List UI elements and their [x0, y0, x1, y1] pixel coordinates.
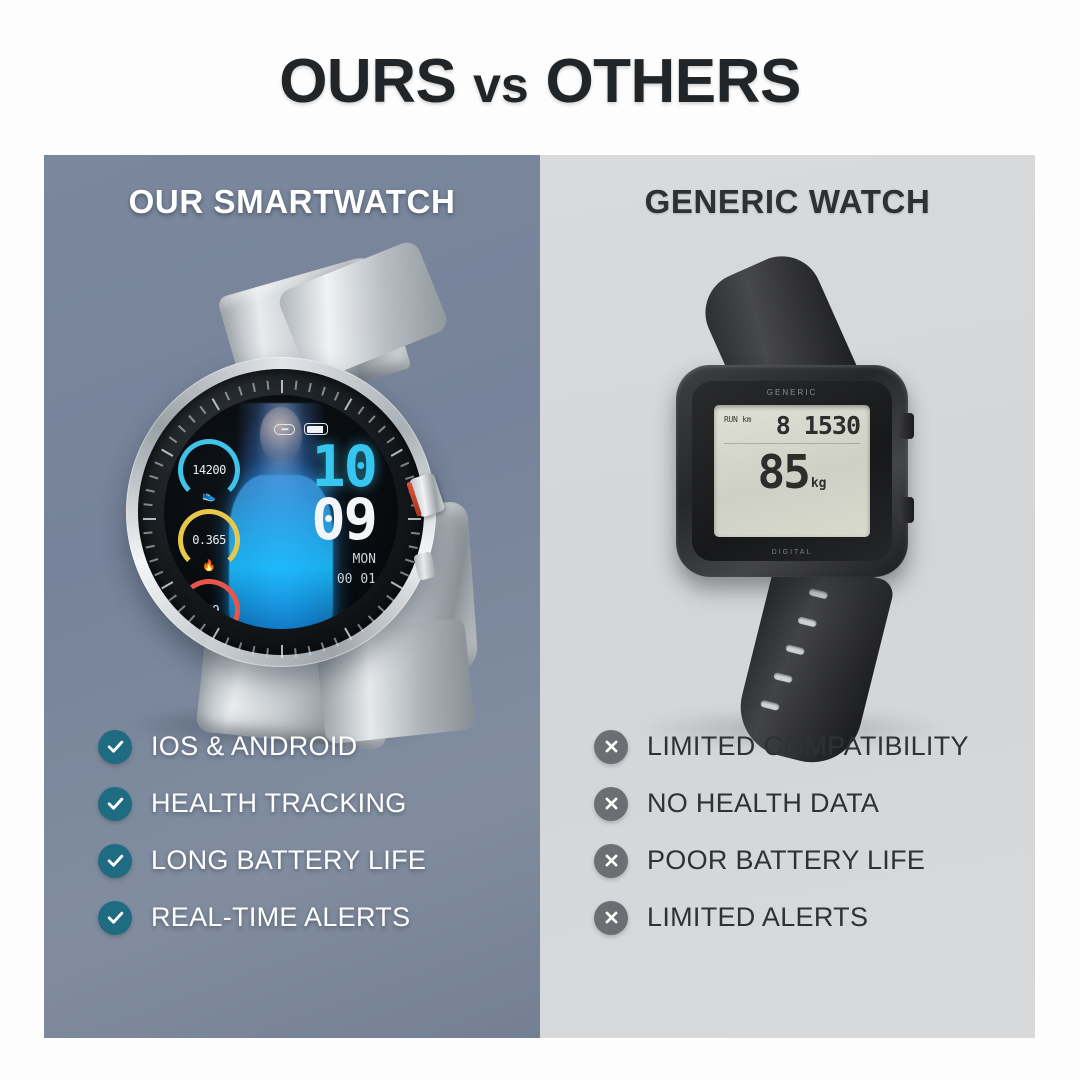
panel-generic-watch: GENERIC WATCH GENERIC DIGIT	[540, 155, 1035, 1038]
watch-screen: 14200 👟 0.365 🔥 089	[164, 395, 398, 629]
watch-tick	[411, 532, 420, 534]
watch-tick	[199, 406, 206, 414]
strap-hole	[808, 588, 828, 599]
watch-tick	[308, 646, 311, 655]
feature-label: POOR BATTERY LIFE	[647, 845, 925, 876]
watch-tick	[358, 624, 365, 632]
strap-hole	[797, 616, 817, 627]
watch-tick	[169, 437, 177, 444]
watch-tick	[334, 637, 339, 646]
footprint-icon: 👟	[202, 491, 216, 502]
watch-case: 14200 👟 0.365 🔥 089	[126, 357, 436, 667]
strap-hole	[760, 700, 780, 711]
watch-tick	[295, 648, 297, 657]
watch-tick	[405, 558, 414, 562]
check-icon	[98, 901, 132, 935]
watch-tick	[409, 545, 418, 548]
feature-item: NO HEALTH DATA	[540, 775, 1035, 832]
watch-tick	[169, 595, 177, 602]
watch-tick	[321, 387, 325, 396]
cross-icon	[594, 730, 628, 764]
watch-tick	[266, 648, 268, 657]
watch-tick	[400, 462, 409, 467]
activity-rings: 14200 👟 0.365 🔥 089	[178, 439, 240, 629]
lcd-unit: kg	[811, 476, 827, 491]
feature-item: REAL-TIME ALERTS	[44, 889, 540, 946]
watch-tick	[368, 415, 375, 423]
generic-watch-lcd: RUN km 8 1530 85 kg	[714, 405, 870, 537]
watch-tick	[386, 437, 394, 444]
watch-tick	[188, 415, 195, 423]
watch-time-block: 10 09 MON 00 01	[311, 441, 376, 588]
watch-tick	[378, 605, 386, 612]
lcd-main-row: 85 kg	[724, 444, 860, 495]
watch-tick	[143, 518, 156, 520]
watch-tick	[225, 637, 230, 646]
ring-heart-rate-value: 089	[178, 579, 240, 629]
check-icon	[98, 730, 132, 764]
feature-label: HEALTH TRACKING	[151, 788, 407, 819]
watch-tick	[149, 558, 158, 562]
watch-tick	[334, 392, 339, 401]
watch-bezel: 14200 👟 0.365 🔥 089	[138, 369, 424, 655]
link-icon	[274, 424, 295, 435]
generic-watch-button	[898, 413, 914, 439]
generic-watch-case: GENERIC DIGITAL RUN km 8 1530 85 kg	[676, 365, 908, 577]
watch-tick	[295, 381, 297, 390]
check-icon	[98, 844, 132, 878]
watch-tick	[308, 383, 311, 392]
product-image-generic-watch: GENERIC DIGITAL RUN km 8 1530 85 kg	[540, 245, 1035, 785]
watch-tick	[378, 425, 386, 432]
watch-tick	[161, 449, 173, 457]
feature-label: REAL-TIME ALERTS	[151, 902, 410, 933]
check-icon	[98, 787, 132, 821]
watch-tick	[143, 504, 152, 506]
watch-tick	[400, 571, 409, 576]
watch-tick	[391, 449, 403, 457]
watch-tick	[408, 518, 421, 520]
watch-tick	[252, 383, 255, 392]
feature-list-ours: IOS & ANDROID HEALTH TRACKING LONG BATTE…	[44, 718, 540, 946]
watch-tick	[321, 642, 325, 651]
strap-hole	[773, 672, 793, 683]
cross-icon	[594, 787, 628, 821]
comparison-board: OUR SMARTWATCH	[44, 155, 1035, 1038]
cross-icon	[594, 901, 628, 935]
feature-label: LONG BATTERY LIFE	[151, 845, 426, 876]
watch-tick	[154, 571, 163, 576]
flame-icon: 🔥	[202, 561, 216, 572]
watch-tick	[344, 628, 352, 640]
watch-tick	[146, 489, 155, 492]
watch-tick	[281, 380, 283, 393]
panel-our-smartwatch: OUR SMARTWATCH	[44, 155, 540, 1038]
watch-tick	[149, 475, 158, 479]
strap-hole	[785, 644, 805, 655]
watch-tick	[358, 406, 365, 414]
watch-tick	[146, 545, 155, 548]
watch-tick	[212, 398, 220, 410]
watch-tick	[143, 532, 152, 534]
watch-tick	[386, 595, 394, 602]
generic-watch-bezel: GENERIC DIGITAL RUN km 8 1530 85 kg	[692, 381, 892, 561]
watch-tick	[281, 645, 283, 658]
feature-label: LIMITED ALERTS	[647, 902, 868, 933]
feature-item: LIMITED ALERTS	[540, 889, 1035, 946]
feature-list-others: LIMITED COMPATIBILITY NO HEALTH DATA POO…	[540, 718, 1035, 946]
feature-label: LIMITED COMPATIBILITY	[647, 731, 969, 762]
watch-weekday: MON	[311, 552, 376, 568]
feature-item: HEALTH TRACKING	[44, 775, 540, 832]
page-title: OURS vs OTHERS	[0, 46, 1080, 117]
cross-icon	[594, 844, 628, 878]
generic-watch-brand: GENERIC	[692, 388, 892, 397]
feature-item: POOR BATTERY LIFE	[540, 832, 1035, 889]
watch-tick	[154, 462, 163, 467]
panel-heading-ours: OUR SMARTWATCH	[44, 183, 540, 221]
panel-heading-others: GENERIC WATCH	[540, 183, 1035, 221]
lcd-label: RUN km	[724, 414, 751, 426]
watch-date: 00 01	[311, 572, 376, 588]
watch-minute: 09	[311, 493, 376, 549]
feature-label: NO HEALTH DATA	[647, 788, 879, 819]
watch-tick	[212, 628, 220, 640]
title-vs: vs	[473, 57, 529, 113]
watch-tick	[266, 381, 268, 390]
watch-tick	[178, 425, 186, 432]
feature-item: LONG BATTERY LIFE	[44, 832, 540, 889]
watch-tick	[238, 387, 242, 396]
feature-label: IOS & ANDROID	[151, 731, 357, 762]
product-image-smartwatch: 14200 👟 0.365 🔥 089	[44, 245, 540, 785]
watch-tick	[391, 581, 403, 589]
generic-watch-button	[898, 497, 914, 523]
ring-heart-rate: 089 ♥	[178, 579, 240, 629]
generic-watch-subtext: DIGITAL	[692, 549, 892, 556]
ring-steps: 14200 👟	[178, 439, 240, 501]
watch-hour: 10	[311, 441, 376, 493]
watch-tick	[225, 392, 230, 401]
watch-tick	[368, 615, 375, 623]
watch-tick	[252, 646, 255, 655]
feature-item: IOS & ANDROID	[44, 718, 540, 775]
watch-tick	[161, 581, 173, 589]
ring-calories: 0.365 🔥	[178, 509, 240, 571]
title-others: OTHERS	[545, 47, 800, 116]
title-ours: OURS	[279, 47, 456, 116]
feature-item: LIMITED COMPATIBILITY	[540, 718, 1035, 775]
watch-tick	[344, 398, 352, 410]
lcd-main-value: 85	[757, 449, 808, 495]
watch-tick	[238, 642, 242, 651]
